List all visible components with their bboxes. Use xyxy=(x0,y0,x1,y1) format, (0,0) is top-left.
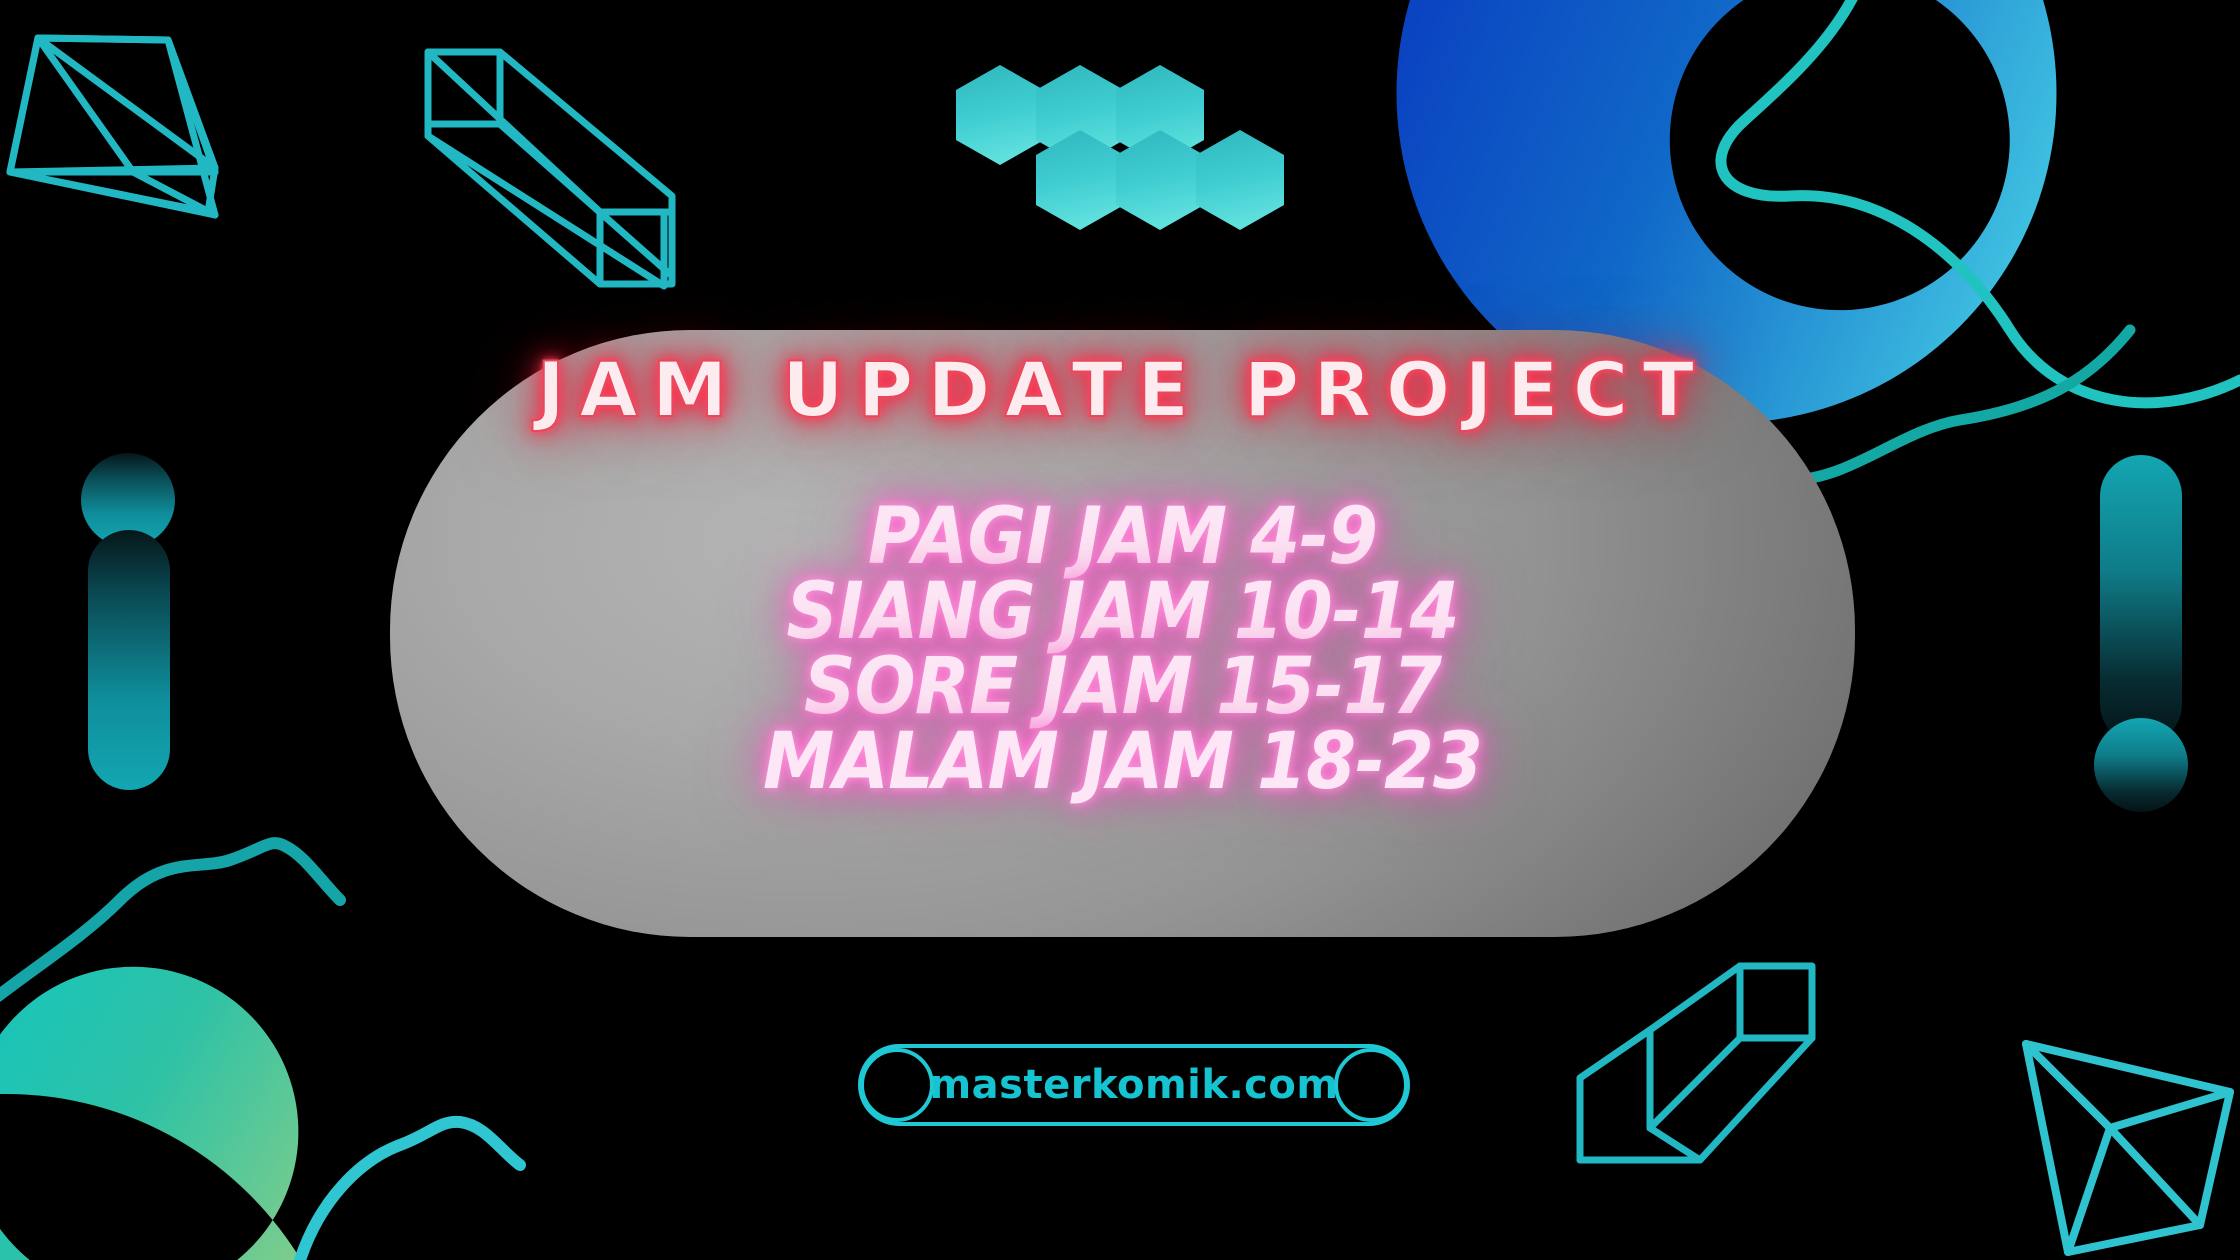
donut-bottom-left xyxy=(0,967,351,1260)
pill-circle-left-icon xyxy=(860,1048,934,1122)
schedule-item-pagi: PAGI JAM 4-9 xyxy=(449,500,1797,575)
exclamation-left xyxy=(81,453,175,790)
wavy-line-bottom-left-inner xyxy=(300,1122,520,1260)
website-url: masterkomik.com xyxy=(929,1062,1338,1108)
wireframe-tetrahedron-top-left-edges xyxy=(10,38,215,215)
exclamation-right xyxy=(2094,455,2188,812)
schedule-item-siang: SIANG JAM 10-14 xyxy=(449,575,1797,650)
wireframe-tetrahedron-bottom-right xyxy=(2026,1044,2230,1252)
page-title: JAM UPDATE PROJECT xyxy=(390,352,1855,428)
schedule-list: PAGI JAM 4-9 SIANG JAM 10-14 SORE JAM 15… xyxy=(390,500,1855,800)
wireframe-box-top-left xyxy=(428,52,672,286)
hexagon-cluster xyxy=(956,65,1284,230)
wireframe-box-bottom-right xyxy=(1580,966,1812,1160)
schedule-item-sore: SORE JAM 15-17 xyxy=(449,650,1797,725)
wireframe-tetrahedron-top-left xyxy=(10,38,215,212)
website-badge[interactable]: masterkomik.com xyxy=(858,1044,1410,1126)
pill-circle-right-icon xyxy=(1334,1048,1408,1122)
schedule-item-malam: MALAM JAM 18-23 xyxy=(449,725,1797,800)
poster-canvas: JAM UPDATE PROJECT PAGI JAM 4-9 SIANG JA… xyxy=(0,0,2240,1260)
